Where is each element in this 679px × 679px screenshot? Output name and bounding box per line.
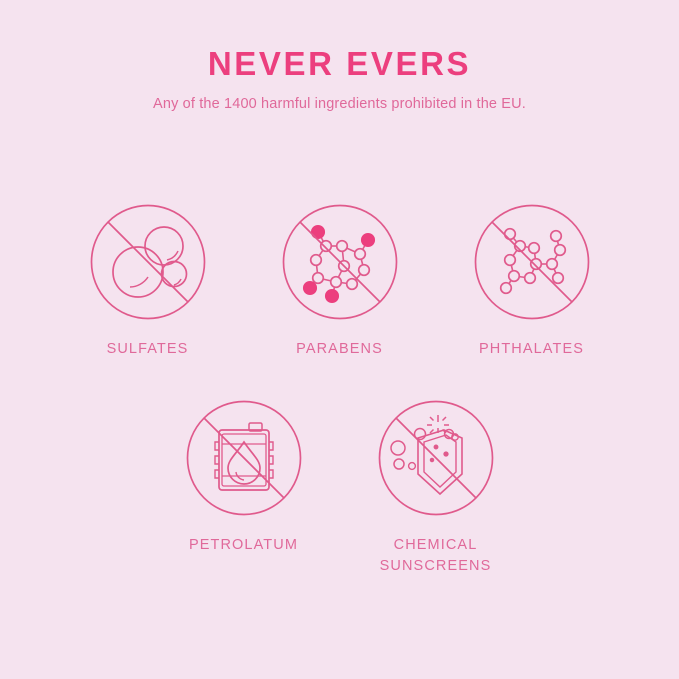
item-chemical-sunscreens: CHEMICAL SUNSCREENS xyxy=(340,392,532,577)
page-subtitle: Any of the 1400 harmful ingredients proh… xyxy=(0,94,679,114)
item-phthalates: PHTHALATES xyxy=(436,196,628,360)
item-label: SULFATES xyxy=(107,339,189,360)
item-sulfates: SULFATES xyxy=(52,196,244,360)
item-label: PARABENS xyxy=(296,339,383,360)
icon-row-one: SULFATES xyxy=(0,196,679,360)
no-petrolatum-barrel-icon xyxy=(178,392,310,524)
item-petrolatum: PETROLATUM xyxy=(148,392,340,577)
no-phthalates-molecule-icon xyxy=(466,196,598,328)
item-label: PHTHALATES xyxy=(479,339,584,360)
item-parabens: PARABENS xyxy=(244,196,436,360)
no-chemical-sunscreens-shield-icon xyxy=(370,392,502,524)
item-label: CHEMICAL SUNSCREENS xyxy=(380,535,492,577)
page-title: NEVER EVERS xyxy=(0,44,679,84)
icon-row-two: PETROLATUM xyxy=(0,392,679,577)
header: NEVER EVERS Any of the 1400 harmful ingr… xyxy=(0,44,679,114)
never-evers-infographic: NEVER EVERS Any of the 1400 harmful ingr… xyxy=(0,0,679,679)
no-sulfates-bubbles-icon xyxy=(82,196,214,328)
no-parabens-molecule-icon xyxy=(274,196,406,328)
item-label: PETROLATUM xyxy=(189,535,298,556)
